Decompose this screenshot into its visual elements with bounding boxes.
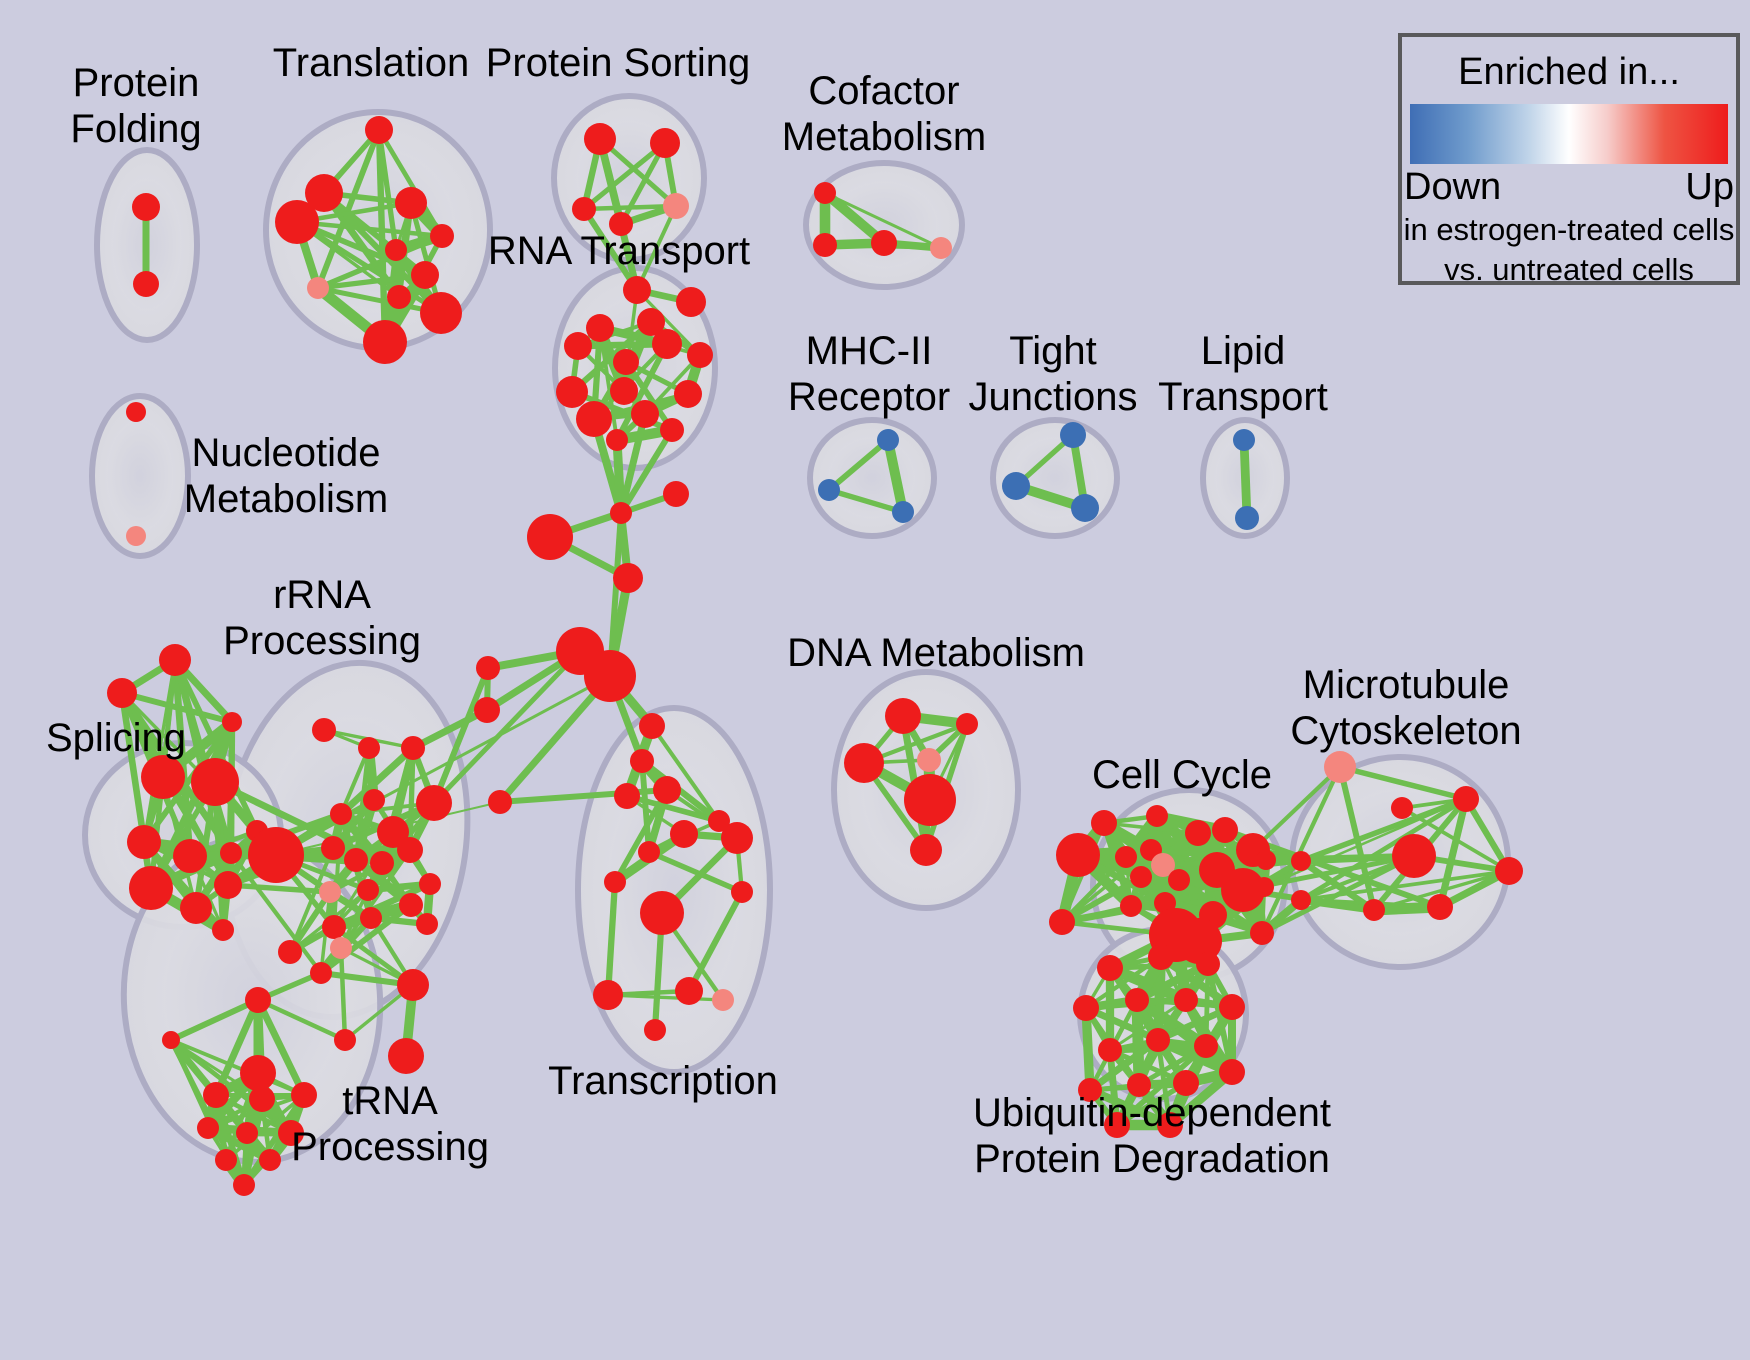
- legend-box: Enriched in... Down Up in estrogen-treat…: [1398, 33, 1740, 285]
- network-node: [126, 402, 146, 422]
- network-node: [676, 287, 706, 317]
- network-node: [363, 320, 407, 364]
- network-node: [576, 401, 612, 437]
- network-node: [930, 237, 952, 259]
- network-node: [358, 737, 380, 759]
- network-node: [1235, 506, 1259, 530]
- legend-down-label: Down: [1404, 166, 1501, 209]
- network-node: [1097, 955, 1123, 981]
- network-node: [564, 332, 592, 360]
- network-node: [844, 743, 884, 783]
- network-node: [310, 962, 332, 984]
- network-node: [312, 718, 336, 742]
- network-node: [357, 879, 379, 901]
- network-node: [675, 977, 703, 1005]
- network-node: [322, 915, 346, 939]
- network-node: [917, 748, 941, 772]
- cluster-label-trna-processing: tRNA Processing: [291, 1078, 489, 1170]
- network-node: [910, 834, 942, 866]
- network-node: [1073, 995, 1099, 1021]
- cluster-label-protein-sorting: Protein Sorting: [486, 40, 751, 86]
- cluster-label-transcription: Transcription: [548, 1058, 778, 1104]
- network-node: [652, 329, 682, 359]
- legend-caption-line2: vs. untreated cells: [1402, 251, 1736, 289]
- network-node: [363, 789, 385, 811]
- network-node: [248, 827, 304, 883]
- network-node: [476, 656, 500, 680]
- network-node: [259, 1149, 281, 1171]
- network-node: [401, 736, 425, 760]
- network-node: [687, 342, 713, 368]
- network-node: [623, 276, 651, 304]
- network-node: [1146, 1028, 1170, 1052]
- network-node: [631, 400, 659, 428]
- cluster-label-nucleotide-metabolism: Nucleotide Metabolism: [184, 430, 389, 522]
- network-node: [249, 1086, 275, 1112]
- network-node: [1148, 944, 1174, 970]
- network-node: [1049, 909, 1075, 935]
- network-node: [330, 937, 352, 959]
- network-node: [613, 349, 639, 375]
- network-node: [159, 644, 191, 676]
- network-node: [129, 866, 173, 910]
- network-node: [214, 871, 242, 899]
- network-node: [1091, 810, 1117, 836]
- network-node: [813, 233, 837, 257]
- network-node: [556, 376, 588, 408]
- network-node: [584, 123, 616, 155]
- network-node: [141, 755, 185, 799]
- cluster-label-translation: Translation: [273, 40, 469, 86]
- network-node: [663, 481, 689, 507]
- network-node: [604, 871, 626, 893]
- color-gradient-bar: [1410, 104, 1728, 164]
- network-node: [1219, 1059, 1245, 1085]
- network-node: [222, 712, 242, 732]
- network-node: [892, 501, 914, 523]
- network-node: [1120, 895, 1142, 917]
- network-node: [1194, 1034, 1218, 1058]
- network-node: [527, 514, 573, 560]
- network-node: [197, 1117, 219, 1139]
- network-node: [319, 881, 341, 903]
- cluster-label-cofactor-metabolism: Cofactor Metabolism: [782, 68, 987, 160]
- cluster-label-rna-transport: RNA Transport: [488, 228, 750, 274]
- network-node: [191, 758, 239, 806]
- network-node: [474, 697, 500, 723]
- network-node: [885, 698, 921, 734]
- network-node: [133, 271, 159, 297]
- network-node: [674, 380, 702, 408]
- network-node: [640, 891, 684, 935]
- network-node: [1130, 866, 1152, 888]
- network-node: [613, 563, 643, 593]
- network-node: [395, 187, 427, 219]
- network-node: [1221, 868, 1265, 912]
- network-node: [419, 873, 441, 895]
- network-node: [240, 1055, 276, 1091]
- network-node: [1427, 894, 1453, 920]
- cluster-label-microtubule-cytoskeleton: Microtubule Cytoskeleton: [1290, 662, 1521, 754]
- network-node: [385, 239, 407, 261]
- network-node: [1291, 890, 1311, 910]
- network-node: [233, 1174, 255, 1196]
- network-node: [871, 230, 897, 256]
- network-node: [126, 526, 146, 546]
- network-node: [370, 851, 394, 875]
- network-node: [614, 783, 640, 809]
- network-node: [321, 836, 345, 860]
- network-node: [586, 314, 614, 342]
- cluster-label-lipid-transport: Lipid Transport: [1158, 328, 1328, 420]
- network-node: [1291, 851, 1311, 871]
- network-node: [712, 989, 734, 1011]
- network-node: [731, 881, 753, 903]
- network-node: [162, 1031, 180, 1049]
- network-node: [593, 980, 623, 1010]
- network-node: [416, 913, 438, 935]
- network-node: [1098, 1038, 1122, 1062]
- network-node: [420, 292, 462, 334]
- network-node: [180, 892, 212, 924]
- network-node: [1324, 751, 1356, 783]
- network-node: [275, 200, 319, 244]
- network-node: [1071, 494, 1099, 522]
- network-node: [173, 839, 207, 873]
- network-node: [488, 790, 512, 814]
- network-node: [107, 678, 137, 708]
- network-node: [1212, 817, 1238, 843]
- cluster-label-splicing: Splicing: [46, 715, 186, 761]
- network-node: [399, 893, 423, 917]
- network-node: [1196, 952, 1220, 976]
- network-node: [1256, 850, 1276, 870]
- network-node: [344, 848, 368, 872]
- network-node: [307, 277, 329, 299]
- network-node: [584, 650, 636, 702]
- network-node: [1453, 786, 1479, 812]
- network-node: [1219, 994, 1245, 1020]
- legend-up-label: Up: [1685, 166, 1734, 209]
- network-node: [132, 193, 160, 221]
- network-node: [203, 1082, 229, 1108]
- network-node: [1392, 834, 1436, 878]
- network-node: [334, 1029, 356, 1051]
- network-node: [236, 1122, 258, 1144]
- network-node: [670, 820, 698, 848]
- network-node: [650, 128, 680, 158]
- network-node: [387, 285, 411, 309]
- cluster-label-mhc-ii-receptor: MHC-II Receptor: [788, 328, 950, 420]
- network-node: [212, 919, 234, 941]
- network-node: [215, 1149, 237, 1171]
- network-node: [330, 803, 352, 825]
- network-node: [904, 774, 956, 826]
- network-node: [818, 479, 840, 501]
- network-figure: Protein FoldingTranslationProtein Sortin…: [0, 0, 1750, 1360]
- legend-title: Enriched in...: [1402, 51, 1736, 94]
- network-node: [1185, 820, 1211, 846]
- network-node: [1174, 988, 1198, 1012]
- network-node: [397, 837, 423, 863]
- network-node: [411, 261, 439, 289]
- cluster-hull-mhc-ii-receptor: [810, 420, 934, 536]
- network-node: [1363, 899, 1385, 921]
- network-node: [721, 822, 753, 854]
- network-node: [606, 429, 628, 451]
- network-node: [572, 197, 596, 221]
- legend-endpoints: Down Up: [1404, 166, 1734, 209]
- network-node: [1060, 422, 1086, 448]
- network-node: [1115, 846, 1137, 868]
- network-node: [430, 224, 454, 248]
- network-node: [1233, 429, 1255, 451]
- network-node: [1168, 869, 1190, 891]
- network-node: [639, 713, 665, 739]
- network-node: [365, 116, 393, 144]
- cluster-label-cell-cycle: Cell Cycle: [1092, 752, 1272, 798]
- network-node: [397, 969, 429, 1001]
- network-node: [1250, 921, 1274, 945]
- network-node: [1146, 805, 1168, 827]
- network-node: [1391, 797, 1413, 819]
- network-node: [663, 193, 689, 219]
- network-node: [1002, 472, 1030, 500]
- network-node: [644, 1019, 666, 1041]
- network-node: [220, 842, 242, 864]
- network-node: [278, 940, 302, 964]
- network-node: [814, 182, 836, 204]
- cluster-label-rrna-processing: rRNA Processing: [223, 572, 421, 664]
- network-node: [877, 429, 899, 451]
- legend-caption-line1: in estrogen-treated cells: [1402, 211, 1736, 249]
- network-node: [630, 749, 654, 773]
- cluster-label-tight-junctions: Tight Junctions: [969, 328, 1138, 420]
- cluster-label-ubiquitin-degradation: Ubiquitin-dependent Protein Degradation: [973, 1090, 1331, 1182]
- network-node: [1125, 988, 1149, 1012]
- network-node: [127, 825, 161, 859]
- network-node: [956, 713, 978, 735]
- network-node: [1056, 833, 1100, 877]
- network-node: [610, 377, 638, 405]
- network-node: [638, 841, 660, 863]
- cluster-label-dna-metabolism: DNA Metabolism: [787, 630, 1085, 676]
- network-node: [1495, 857, 1523, 885]
- network-node: [245, 987, 271, 1013]
- network-node: [360, 907, 382, 929]
- network-node: [610, 502, 632, 524]
- network-node: [653, 776, 681, 804]
- network-node: [416, 785, 452, 821]
- network-node: [660, 418, 684, 442]
- cluster-label-protein-folding: Protein Folding: [70, 60, 201, 152]
- network-node: [388, 1038, 424, 1074]
